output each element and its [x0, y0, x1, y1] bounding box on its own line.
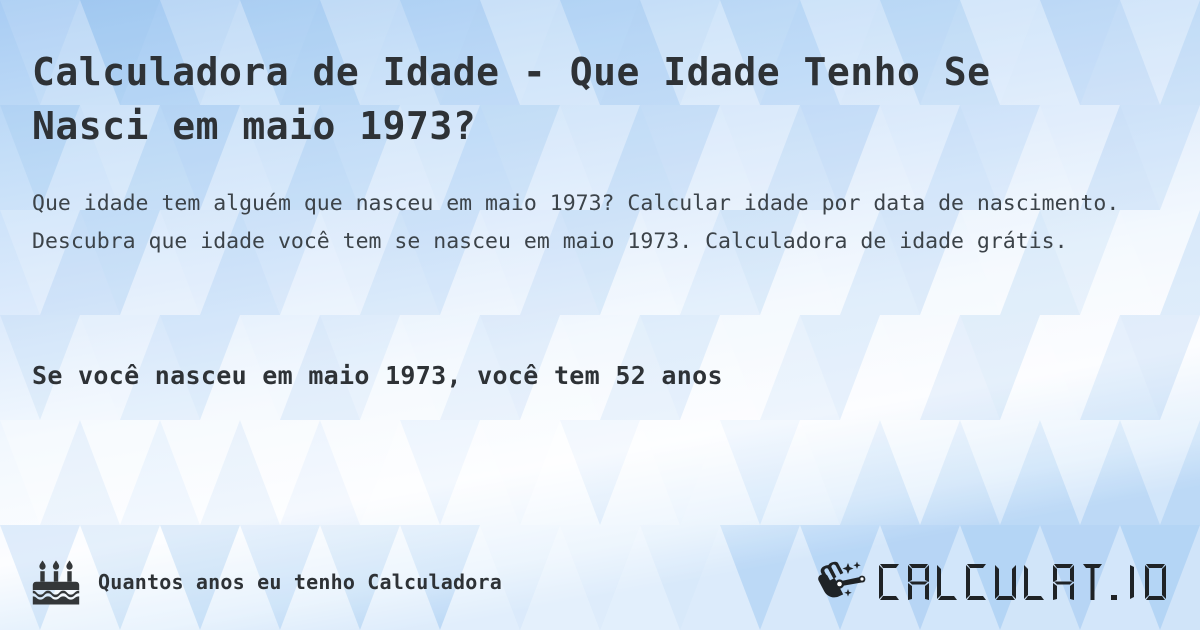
footer: Quantos anos eu tenho Calculadora — [32, 556, 1168, 608]
lcd-letter-l-1 — [935, 562, 960, 602]
lcd-letter-c-2 — [964, 562, 989, 602]
lcd-letter-c — [877, 562, 902, 602]
page-description: Que idade tem alguém que nasceu em maio … — [32, 185, 1144, 261]
footer-label: Quantos anos eu tenho Calculadora — [98, 570, 502, 594]
brand-wordmark — [877, 562, 1168, 602]
page-title: Calculadora de Idade - Que Idade Tenho S… — [32, 45, 1042, 153]
brand-logo[interactable] — [817, 560, 1168, 604]
lcd-letter-o — [1143, 562, 1168, 602]
answer-statement: Se você nasceu em maio 1973, você tem 52… — [32, 357, 1162, 395]
birthday-cake-icon — [32, 560, 80, 605]
lcd-letter-u-1 — [993, 562, 1018, 602]
lcd-period — [1109, 562, 1122, 602]
lcd-letter-t — [1080, 562, 1105, 602]
lcd-letter-l-2 — [1022, 562, 1047, 602]
footer-brand-left: Quantos anos eu tenho Calculadora — [32, 560, 502, 605]
lcd-letter-i — [1126, 562, 1139, 602]
lcd-letter-a-1 — [906, 562, 931, 602]
magic-wand-hand-icon — [817, 560, 871, 604]
lcd-letter-a-2 — [1051, 562, 1076, 602]
card-content: Calculadora de Idade - Que Idade Tenho S… — [0, 0, 1200, 630]
og-image-card: Calculadora de Idade - Que Idade Tenho S… — [0, 0, 1200, 630]
